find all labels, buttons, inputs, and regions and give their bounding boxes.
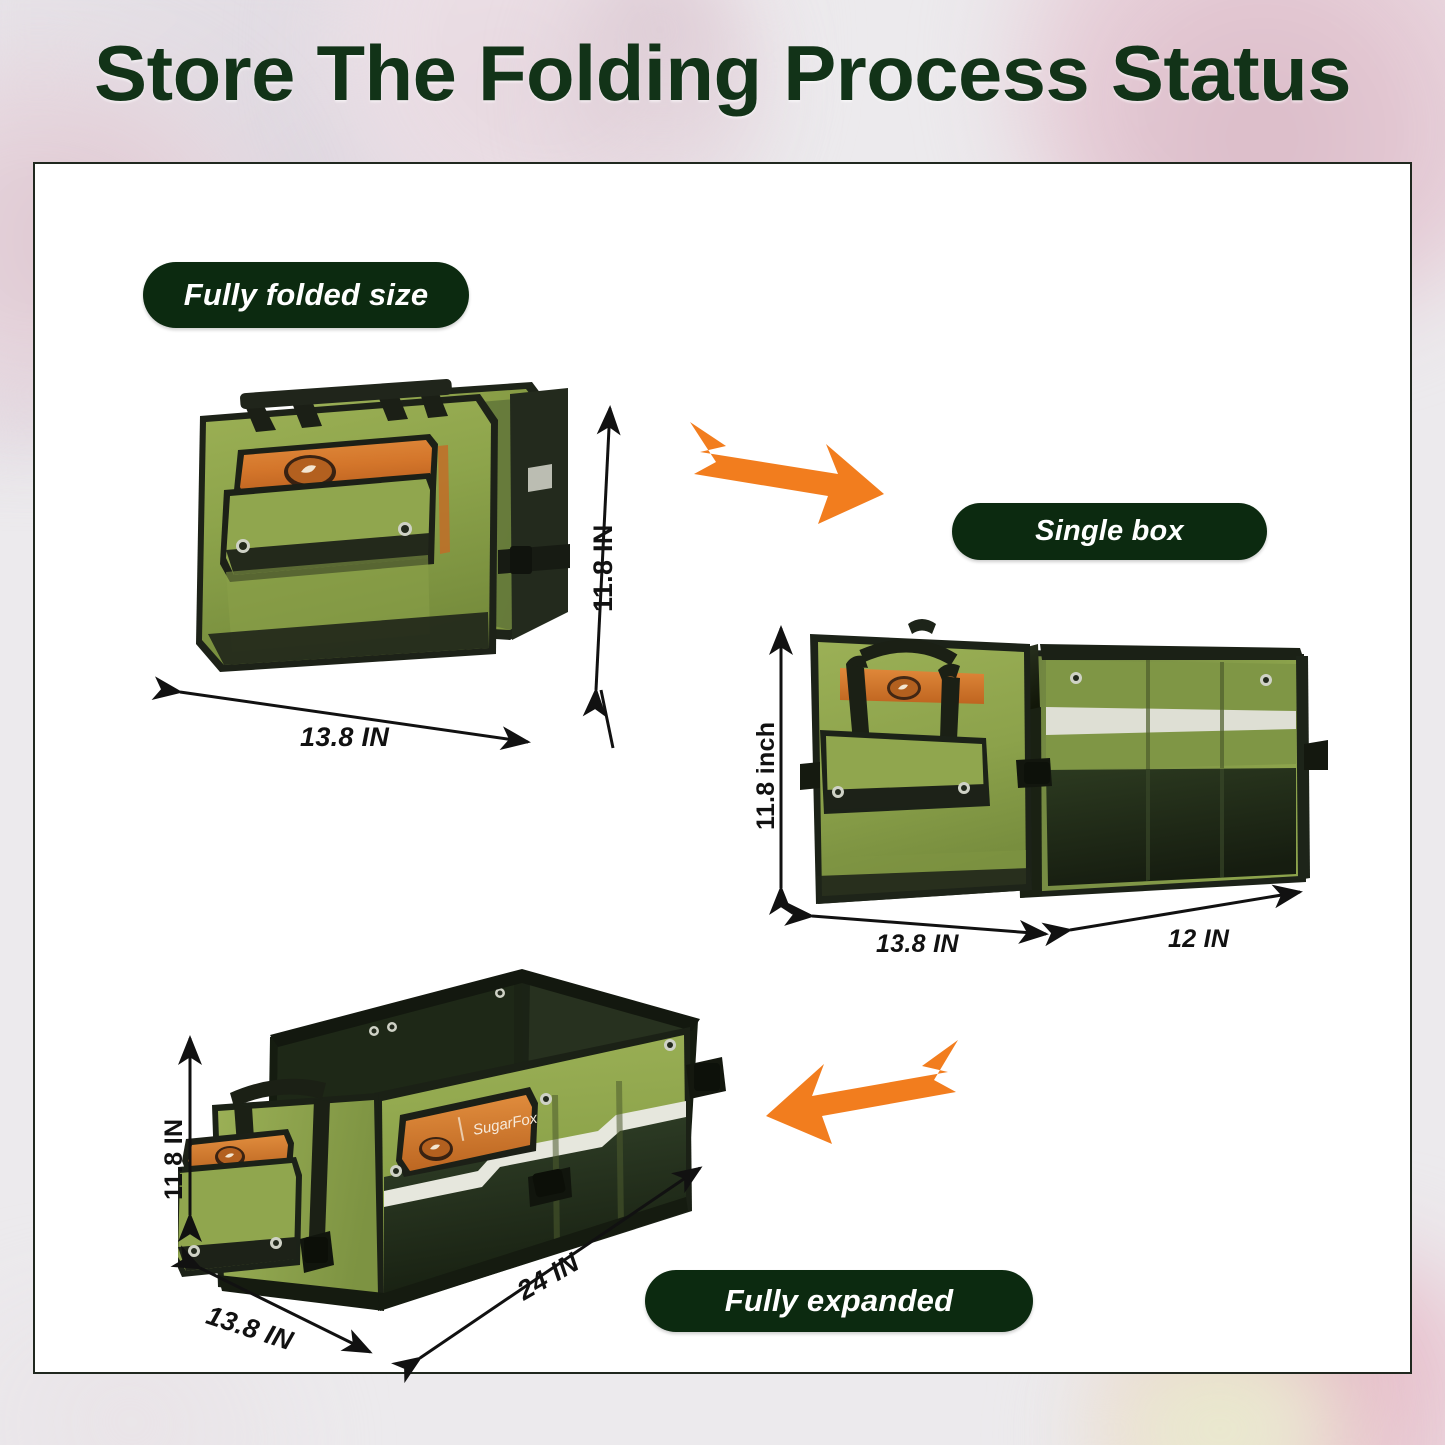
dim-single-width: 13.8 IN [876, 930, 959, 959]
badge-fully-folded[interactable]: Fully folded size [143, 262, 469, 328]
badge-fully-folded-label: Fully folded size [184, 277, 429, 313]
product-image-single-box [788, 612, 1328, 912]
dim-expanded-height: 11.8 IN [160, 1119, 189, 1200]
badge-single-box-label: Single box [1035, 515, 1184, 548]
product-image-fully-folded [180, 372, 570, 692]
badge-fully-expanded-label: Fully expanded [725, 1283, 953, 1319]
dim-single-depth: 12 IN [1168, 925, 1229, 954]
page-title: Store The Folding Process Status [0, 28, 1445, 119]
badge-single-box[interactable]: Single box [952, 503, 1267, 560]
dim-folded-width: 13.8 IN [300, 722, 389, 753]
folded-bag-illustration [180, 372, 570, 692]
dim-folded-height: 11.8 IN [588, 524, 619, 612]
single-box-illustration [788, 612, 1328, 912]
badge-fully-expanded[interactable]: Fully expanded [645, 1270, 1033, 1332]
dim-single-height: 11.8 inch [752, 722, 781, 830]
